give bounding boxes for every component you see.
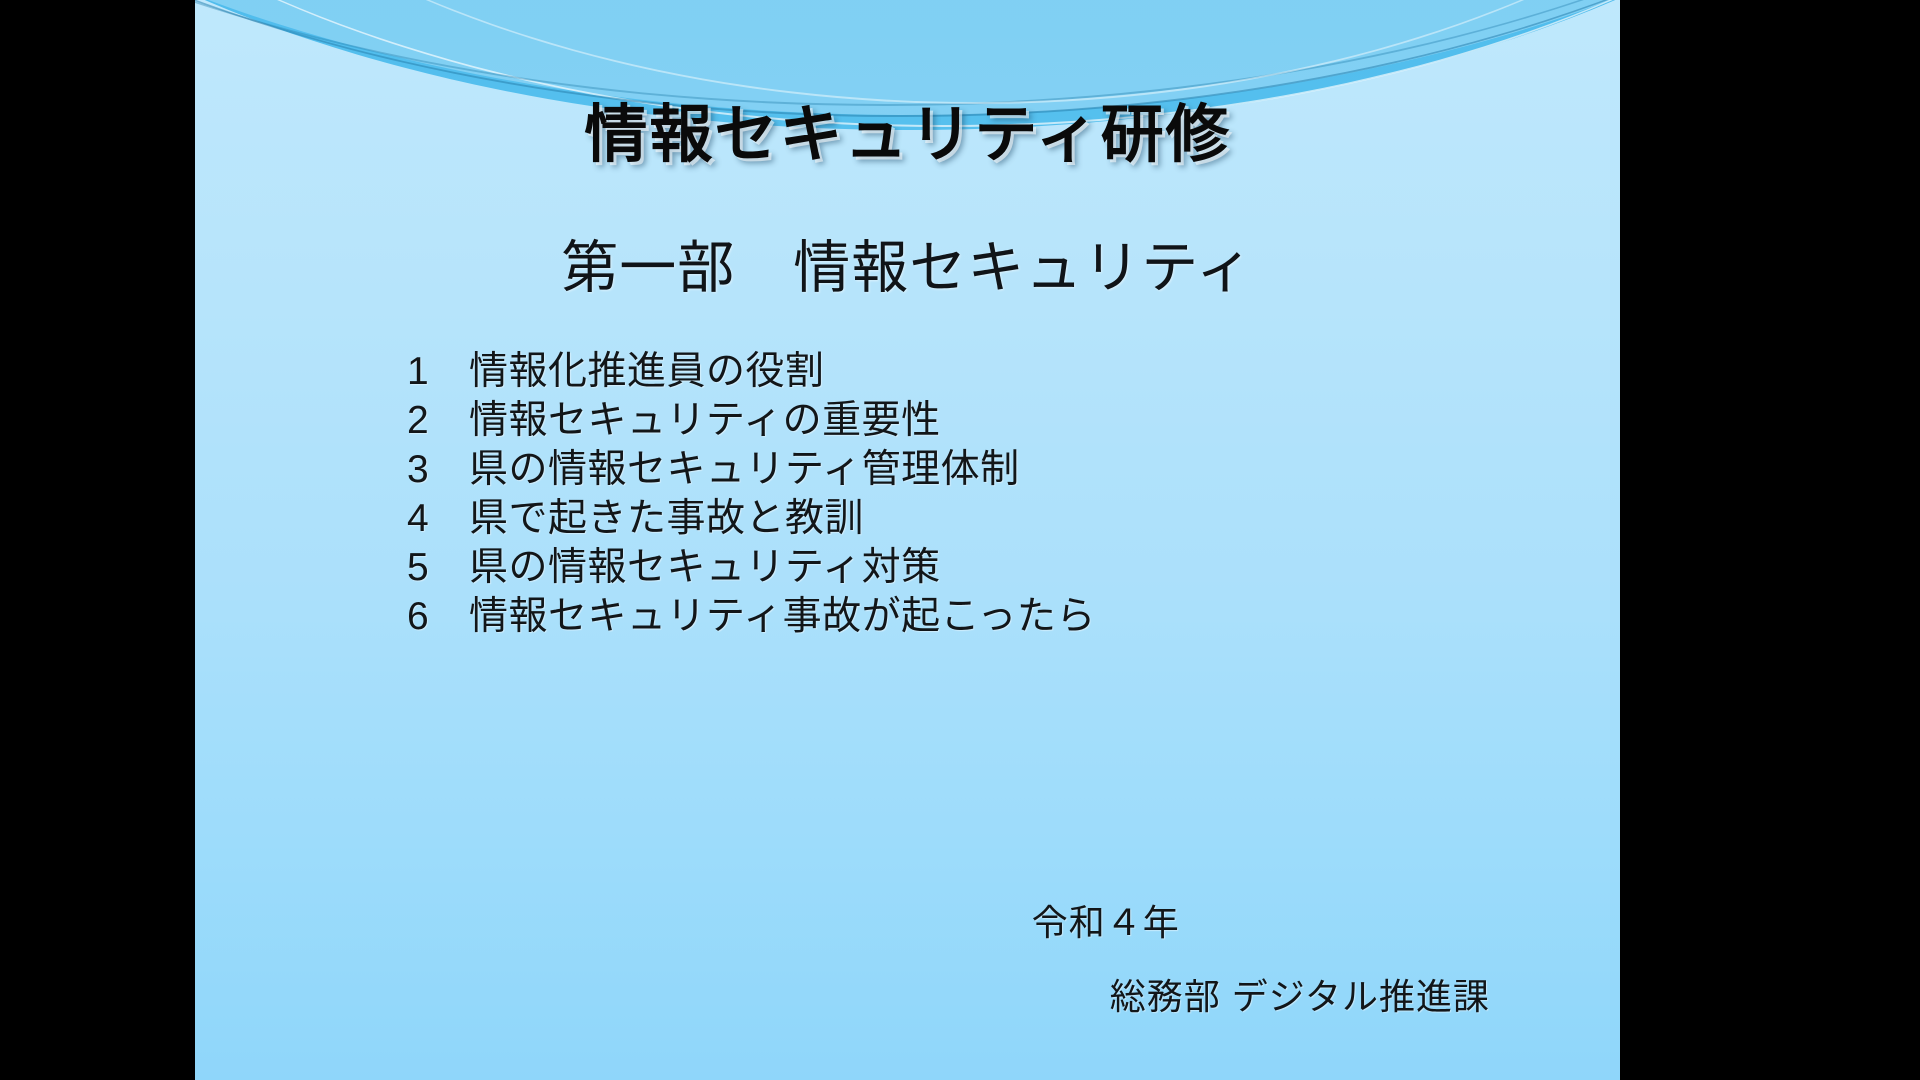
footer-organization: 総務部 デジタル推進課 <box>1032 968 1490 1020</box>
agenda-item: 4 県で起きた事故と教訓 <box>407 487 1507 536</box>
agenda-item: 5 県の情報セキュリティ対策 <box>407 536 1507 585</box>
agenda-item-number: 4 <box>407 497 469 541</box>
slide-title: 情報セキュリティ研修 <box>195 84 1620 175</box>
agenda-item-number: 2 <box>407 399 469 443</box>
slide-content: 情報セキュリティ研修 第一部 情報セキュリティ 1 情報化推進員の役割 2 情報… <box>195 0 1620 1080</box>
agenda-item-label: 情報セキュリティ事故が起こったら <box>469 585 1507 641</box>
agenda-item: 2 情報セキュリティの重要性 <box>407 389 1507 438</box>
screen: 情報セキュリティ研修 第一部 情報セキュリティ 1 情報化推進員の役割 2 情報… <box>0 0 1920 1080</box>
agenda-list: 1 情報化推進員の役割 2 情報セキュリティの重要性 3 県の情報セキュリティ管… <box>407 340 1507 634</box>
presentation-slide: 情報セキュリティ研修 第一部 情報セキュリティ 1 情報化推進員の役割 2 情報… <box>195 0 1620 1080</box>
agenda-item-number: 6 <box>407 595 469 639</box>
agenda-item-label: 情報セキュリティの重要性 <box>469 389 1507 445</box>
agenda-item-label: 県の情報セキュリティ管理体制 <box>469 438 1507 494</box>
letterbox-bar-right <box>1620 0 1920 1080</box>
slide-footer: 令和４年 総務部 デジタル推進課 <box>1032 894 1490 1020</box>
agenda-item-number: 5 <box>407 546 469 590</box>
slide-subtitle: 第一部 情報セキュリティ <box>195 222 1620 304</box>
agenda-item-label: 県の情報セキュリティ対策 <box>469 536 1507 592</box>
agenda-item-number: 3 <box>407 448 469 492</box>
agenda-item-number: 1 <box>407 350 469 394</box>
agenda-item: 6 情報セキュリティ事故が起こったら <box>407 585 1507 634</box>
agenda-item-label: 県で起きた事故と教訓 <box>469 487 1507 543</box>
agenda-item-label: 情報化推進員の役割 <box>469 340 1507 396</box>
agenda-item: 1 情報化推進員の役割 <box>407 340 1507 389</box>
footer-year: 令和４年 <box>1032 894 1490 946</box>
agenda-item: 3 県の情報セキュリティ管理体制 <box>407 438 1507 487</box>
letterbox-bar-left <box>0 0 195 1080</box>
